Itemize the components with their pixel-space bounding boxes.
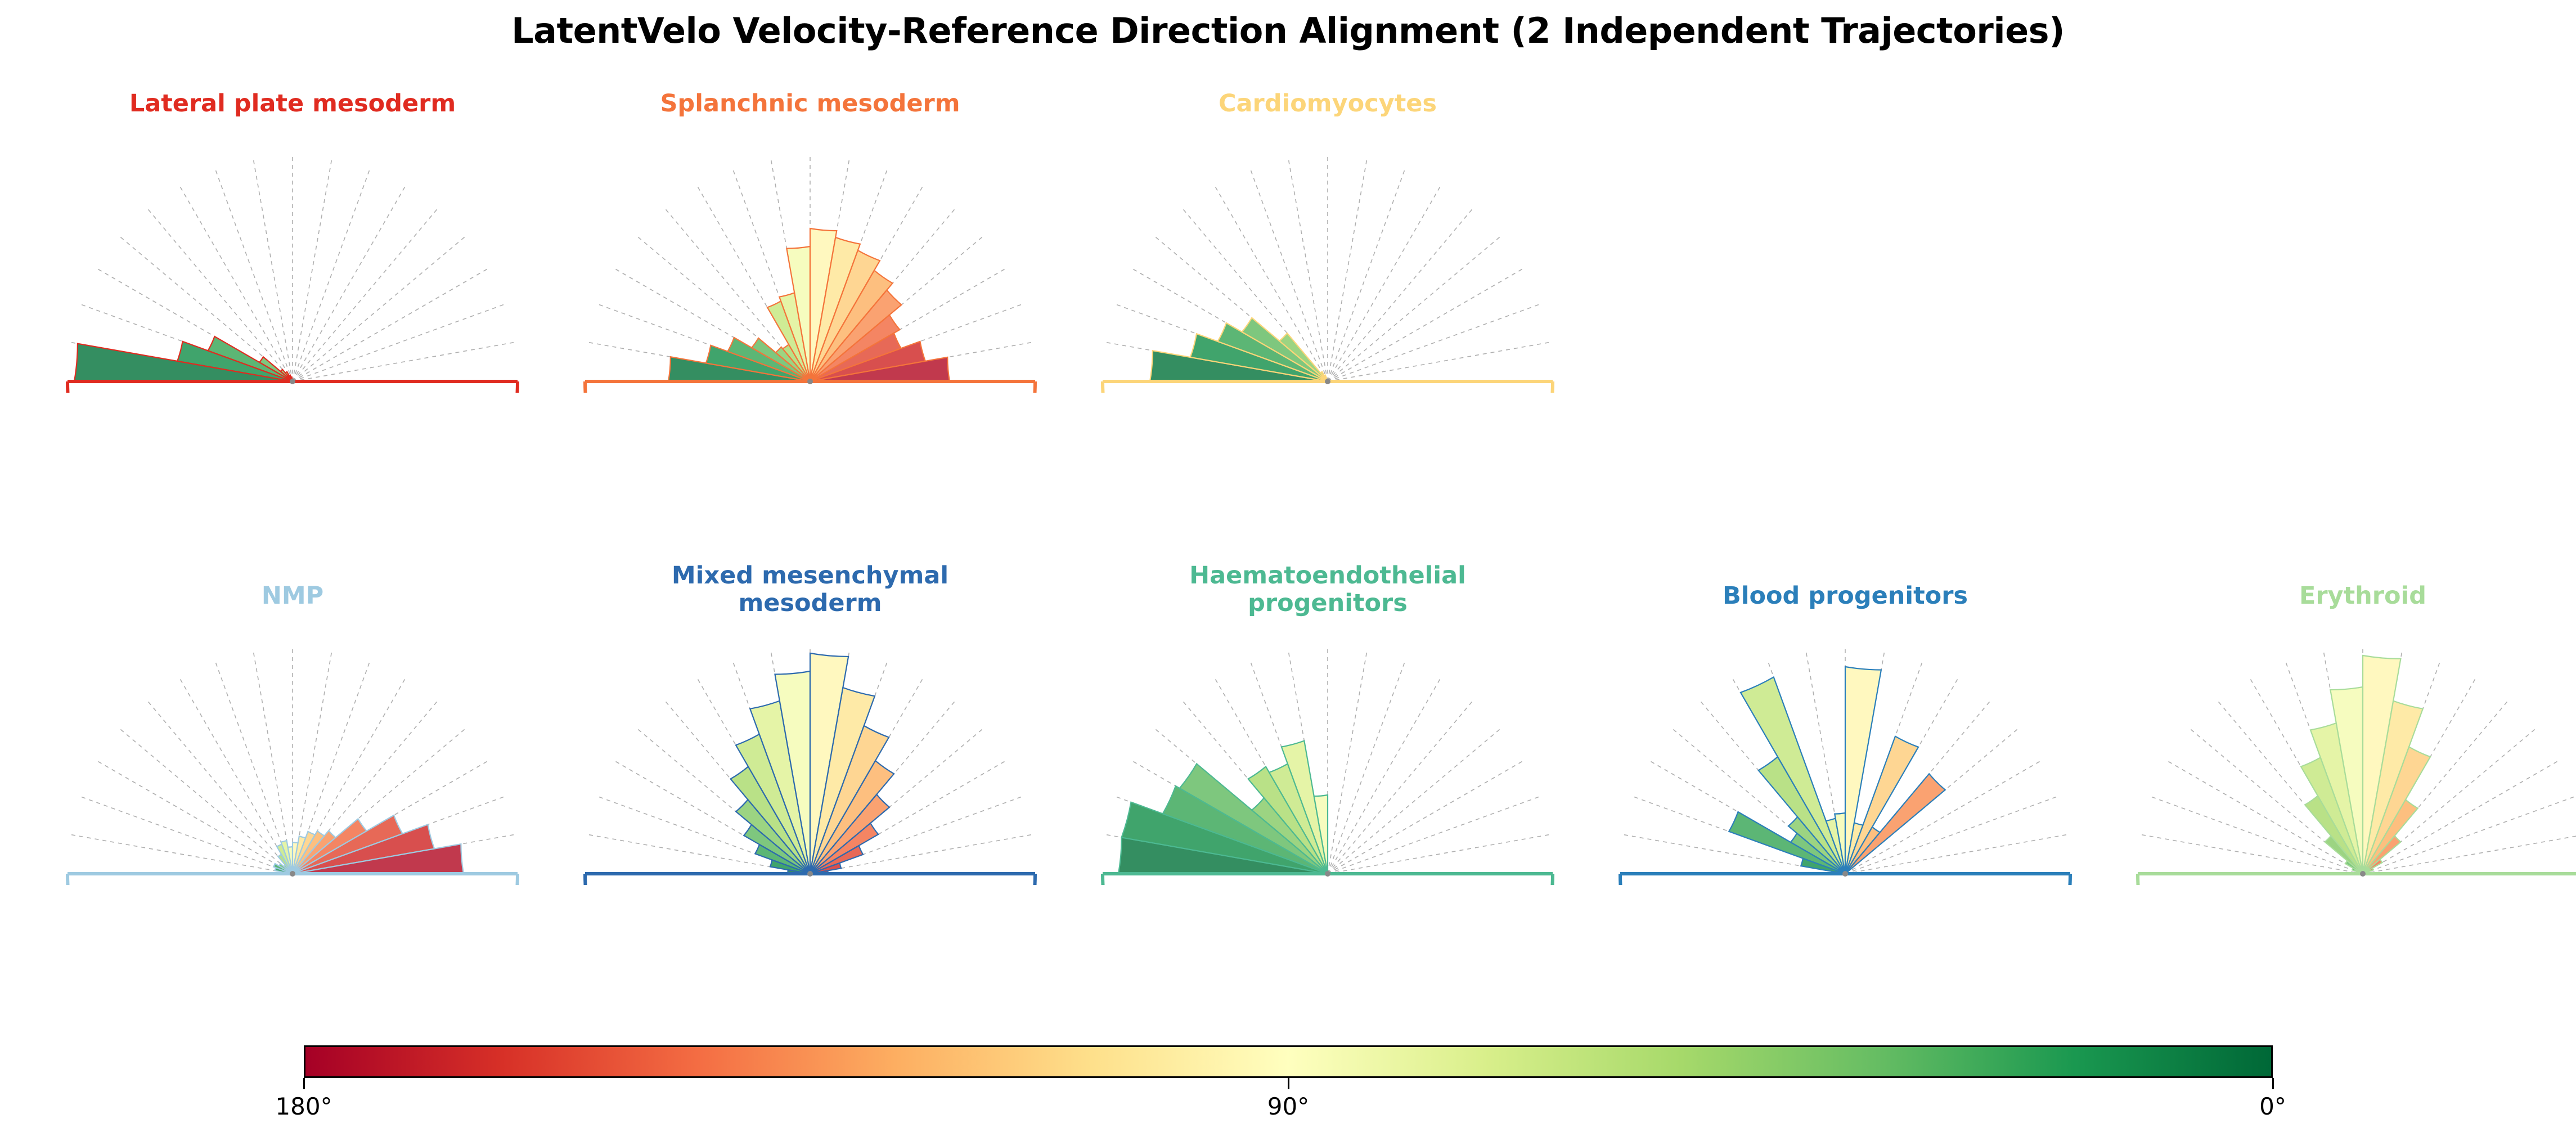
panel-title-haematoendothelial-progenitors: Haematoendothelial progenitors [1069, 562, 1586, 617]
histogram-bars [273, 815, 464, 874]
panel-erythroid[interactable]: Erythroid [2104, 582, 2576, 897]
histogram-bars [731, 653, 894, 874]
radial-gridlines [1106, 156, 1549, 381]
polar-histogram-haematoendothelial-progenitors [1069, 643, 1586, 885]
polar-origin-marker [2360, 871, 2366, 877]
histogram-bars [1729, 667, 1945, 874]
histogram-bars [2301, 655, 2430, 874]
colorbar-gradient [304, 1045, 2273, 1078]
polar-origin-marker [1325, 379, 1330, 384]
colorbar-tick-label: 90° [1267, 1093, 1309, 1120]
colorbar-tick-2 [2272, 1078, 2274, 1089]
panel-splanchnic-mesoderm[interactable]: Splanchnic mesoderm [551, 90, 1069, 405]
polar-origin-marker [290, 871, 295, 877]
panel-title-mixed-mesenchymal-mesoderm: Mixed mesenchymal mesoderm [551, 562, 1069, 617]
panel-grid: Lateral plate mesodermSplanchnic mesoder… [0, 0, 2576, 1132]
histogram-bars [1150, 318, 1328, 381]
panel-lateral-plate-mesoderm[interactable]: Lateral plate mesoderm [34, 90, 551, 405]
colorbar-tick-0 [303, 1078, 305, 1089]
colorbar-tick-label: 0° [2259, 1093, 2286, 1120]
polar-origin-marker [807, 379, 813, 384]
angle-colorbar[interactable]: 180°90°0° [304, 1045, 2273, 1113]
polar-origin-marker [290, 379, 295, 384]
polar-histogram-cardiomyocytes [1069, 151, 1586, 393]
panel-title-lateral-plate-mesoderm: Lateral plate mesoderm [34, 90, 551, 118]
polar-histogram-mixed-mesenchymal-mesoderm [551, 643, 1069, 885]
histogram-bars [74, 336, 293, 381]
panel-mixed-mesenchymal-mesoderm[interactable]: Mixed mesenchymal mesoderm [551, 582, 1069, 897]
polar-origin-marker [1842, 871, 1848, 877]
polar-histogram-erythroid [2104, 643, 2576, 885]
colorbar-tick-label: 180° [275, 1093, 332, 1120]
polar-histogram-nmp [34, 643, 551, 885]
histogram-bars [668, 228, 950, 381]
polar-histogram-lateral-plate-mesoderm [34, 151, 551, 393]
colorbar-tick-1 [1288, 1078, 1289, 1089]
panel-title-nmp: NMP [34, 582, 551, 610]
panel-title-cardiomyocytes: Cardiomyocytes [1069, 90, 1586, 118]
polar-histogram-splanchnic-mesoderm [551, 151, 1069, 393]
polar-origin-marker [1325, 871, 1330, 877]
histogram-bars [1118, 741, 1328, 874]
panel-title-splanchnic-mesoderm: Splanchnic mesoderm [551, 90, 1069, 118]
panel-cardiomyocytes[interactable]: Cardiomyocytes [1069, 90, 1586, 405]
radial-gridlines [71, 156, 514, 381]
panel-title-erythroid: Erythroid [2104, 582, 2576, 610]
panel-blood-progenitors[interactable]: Blood progenitors [1586, 582, 2104, 897]
panel-haematoendothelial-progenitors[interactable]: Haematoendothelial progenitors [1069, 582, 1586, 897]
panel-title-blood-progenitors: Blood progenitors [1586, 582, 2104, 610]
panel-nmp[interactable]: NMP [34, 582, 551, 897]
polar-histogram-blood-progenitors [1586, 643, 2104, 885]
polar-origin-marker [807, 871, 813, 877]
radial-gridlines [71, 649, 514, 874]
